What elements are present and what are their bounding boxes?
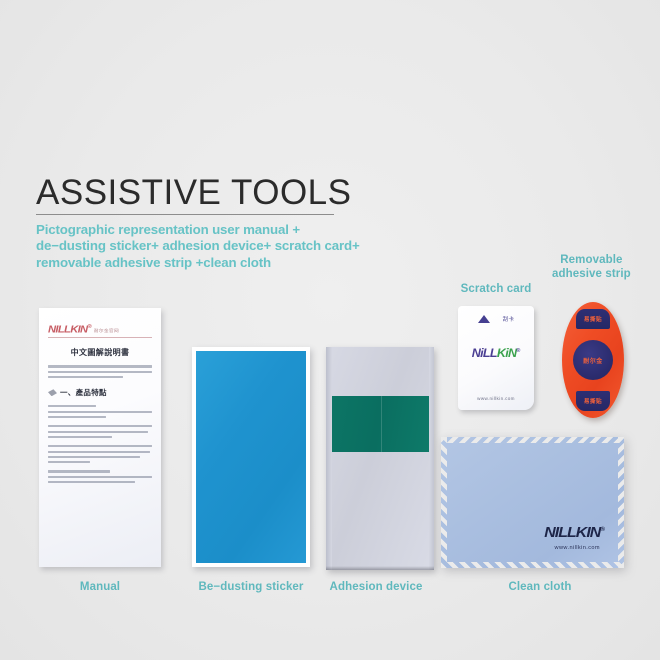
- clean-cloth-serrated-edge-left: [441, 437, 447, 568]
- scratch-card-cn-label: 刮卡: [503, 315, 515, 323]
- de-dusting-sticker: [192, 347, 310, 567]
- caption-scratch-card: Scratch card: [461, 283, 532, 295]
- adhesive-strip-top-text: 易撕贴: [584, 315, 602, 323]
- manual-paragraph: [48, 405, 152, 418]
- clean-cloth: NILLKIN® www.nillkin.com: [441, 437, 624, 568]
- manual-document-title: 中文圖解說明書: [48, 347, 152, 358]
- removable-adhesive-strip: 易撕贴 耐尔金 易撕贴: [562, 302, 624, 418]
- adhesion-device-right-edge: [429, 347, 434, 570]
- title-underline: [36, 214, 334, 215]
- manual-section-marker-icon: [48, 389, 57, 396]
- scratch-card-url: www.nillkin.com: [458, 396, 534, 401]
- adhesive-strip-bottom-band: 易撕贴: [576, 391, 610, 411]
- adhesion-device-panel-seam: [381, 396, 382, 452]
- caption-adhesive-strip-line-1: Removable: [552, 253, 631, 267]
- adhesion-device: [326, 347, 434, 570]
- clean-cloth-serrated-edge-right: [618, 437, 624, 568]
- clean-cloth-brand-logo: NILLKIN®: [544, 524, 605, 541]
- manual-logo-rule: [48, 337, 152, 338]
- manual-paragraph: [48, 445, 152, 463]
- manual-brand-tagline: 耐尔金官网: [94, 328, 119, 333]
- scratch-card: 刮卡 NiLLKiN® www.nillkin.com: [458, 306, 534, 410]
- scratch-card-brand-part-2: KiN: [497, 346, 517, 360]
- caption-adhesion-device: Adhesion device: [330, 581, 423, 593]
- page-title: ASSISTIVE TOOLS: [36, 174, 376, 212]
- scratch-card-registered-mark: ®: [516, 348, 520, 354]
- manual-content: NILLKIN®耐尔金官网 中文圖解說明書 一、產品特點: [39, 308, 161, 483]
- product-manual-sheet: NILLKIN®耐尔金官网 中文圖解說明書 一、產品特點: [39, 308, 161, 567]
- clean-cloth-registered-mark: ®: [600, 527, 605, 533]
- manual-section-heading: 一、產品特點: [48, 387, 152, 398]
- triangle-icon: [478, 315, 490, 323]
- caption-adhesive-strip-line-2: adhesive strip: [552, 267, 631, 281]
- manual-paragraph: [48, 425, 152, 438]
- manual-brand-logo: NILLKIN®耐尔金官网: [48, 324, 161, 335]
- scratch-card-brand-part-1: NiLL: [472, 346, 497, 360]
- adhesion-device-bottom-shadow: [326, 566, 434, 570]
- de-dusting-sticker-face: [196, 351, 306, 563]
- adhesive-strip-center-badge: 耐尔金: [573, 340, 613, 380]
- scratch-card-brand-logo: NiLLKiN®: [458, 346, 534, 360]
- page-subtitle: Pictographic representation user manual …: [36, 222, 366, 271]
- scratch-card-top-row: 刮卡: [458, 315, 534, 323]
- manual-brand-registered-mark: ®: [87, 324, 91, 330]
- clean-cloth-url: www.nillkin.com: [555, 545, 600, 551]
- adhesion-device-left-edge: [326, 347, 332, 570]
- manual-section-title: 一、產品特點: [60, 387, 107, 398]
- manual-brand-name: NILLKIN: [48, 324, 87, 335]
- caption-de-dusting-sticker: Be−dusting sticker: [198, 581, 303, 593]
- clean-cloth-brand-name: NILLKIN: [544, 524, 600, 541]
- caption-manual: Manual: [80, 581, 120, 593]
- caption-adhesive-strip: Removable adhesive strip: [552, 253, 631, 281]
- adhesion-device-green-panel: [332, 396, 429, 452]
- adhesive-strip-center-text: 耐尔金: [583, 356, 603, 365]
- clean-cloth-serrated-edge-bottom: [441, 562, 624, 568]
- clean-cloth-serrated-edge-top: [441, 437, 624, 443]
- caption-clean-cloth: Clean cloth: [508, 581, 571, 593]
- manual-paragraph: [48, 365, 152, 378]
- adhesive-strip-top-band: 易撕贴: [576, 309, 610, 329]
- product-infographic: ASSISTIVE TOOLS Pictographic representat…: [0, 0, 660, 660]
- manual-paragraph: [48, 470, 152, 483]
- adhesive-strip-bottom-text: 易撕贴: [584, 397, 602, 405]
- heading-block: ASSISTIVE TOOLS Pictographic representat…: [36, 174, 376, 271]
